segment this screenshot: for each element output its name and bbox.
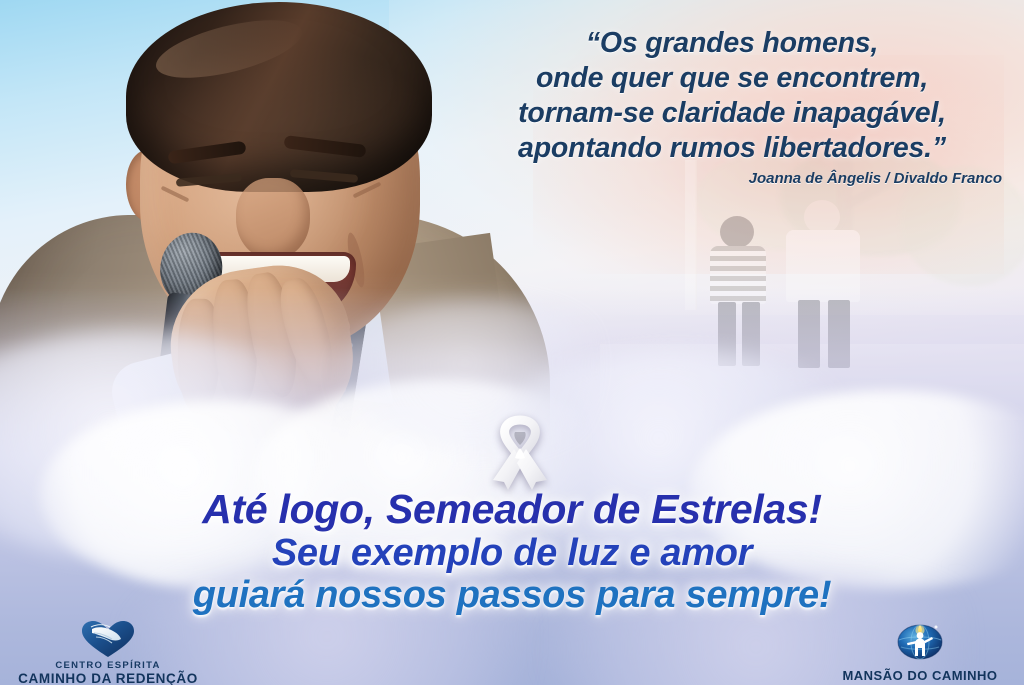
headline-line-2: Seu exemplo de luz e amor (0, 532, 1024, 574)
white-mourning-ribbon-icon (487, 414, 553, 490)
cloud (330, 300, 630, 450)
logo-centro-espirita-caminho-da-redencao: CENTRO ESPÍRITA CAMINHO DA REDENÇÃO (8, 620, 208, 685)
headline-text: Até logo, Semeador de Estrelas! Seu exem… (0, 487, 1024, 617)
logo-left-line-1: CENTRO ESPÍRITA (8, 660, 208, 671)
globe-figure-flame-logo-icon (894, 616, 946, 662)
quote-text: “Os grandes homens, onde quer que se enc… (462, 26, 1002, 166)
logo-right-line-2: MANSÃO DO CAMINHO (820, 668, 1020, 684)
quote-line-2: onde quer que se encontrem, (462, 61, 1002, 96)
heart-hands-logo-icon (80, 620, 136, 658)
quote-attribution: Joanna de Ângelis / Divaldo Franco (462, 170, 1016, 187)
quote-line-3: tornam-se claridade inapagável, (462, 96, 1002, 131)
logo-mansao-do-caminho: MANSÃO DO CAMINHO (820, 616, 1020, 684)
quote-line-1: “Os grandes homens, (462, 26, 1002, 61)
headline-line-3: guiará nossos passos para sempre! (0, 574, 1024, 617)
logo-left-line-2: CAMINHO DA REDENÇÃO (8, 671, 208, 685)
headline-line-1: Até logo, Semeador de Estrelas! (0, 487, 1024, 532)
memorial-poster: “Os grandes homens, onde quer que se enc… (0, 0, 1024, 685)
quote-line-4: apontando rumos libertadores.” (462, 131, 1002, 166)
